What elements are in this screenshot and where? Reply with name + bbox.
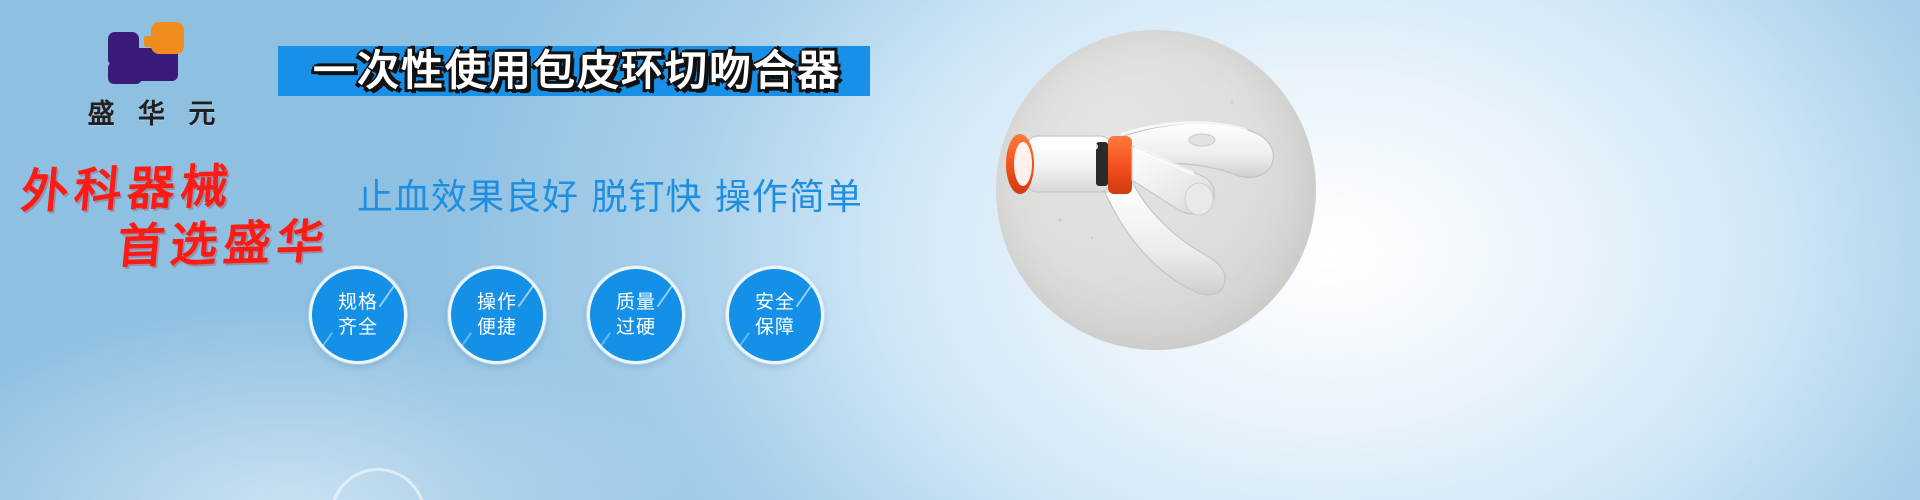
subtitle: 止血效果良好 脱钉快 操作简单 <box>340 168 880 220</box>
slash-icon <box>460 332 472 348</box>
shenghuayuan-block-logo-icon <box>108 22 200 84</box>
slash-icon <box>796 285 813 307</box>
promo-banner: 盛 华 元 外科器械 首选盛华 一次性使用包皮环切吻合器 止血效果良好 脱钉快 … <box>0 0 1920 500</box>
badge-line-2: 便捷 <box>477 315 517 340</box>
feature-badges: 规格 齐全 操作 便捷 质量 过硬 安全 保障 <box>309 266 869 362</box>
page-title: 一次性使用包皮环切吻合器 <box>282 44 872 98</box>
feature-badge[interactable]: 安全 保障 <box>726 266 824 364</box>
decorative-arc <box>330 468 426 500</box>
feature-badge[interactable]: 质量 过硬 <box>587 266 685 364</box>
feature-badge[interactable]: 规格 齐全 <box>309 266 407 364</box>
badge-line-2: 过硬 <box>616 315 656 340</box>
feature-badge[interactable]: 操作 便捷 <box>448 266 546 364</box>
slash-icon <box>599 332 611 348</box>
brand-logo[interactable]: 盛 华 元 <box>60 22 250 132</box>
circumcision-stapler-photo-icon <box>996 30 1316 350</box>
slash-icon <box>738 332 750 348</box>
badge-line-2: 保障 <box>755 315 795 340</box>
slash-icon <box>321 332 333 348</box>
product-photo <box>996 30 1316 350</box>
badge-line-1: 质量 <box>616 290 656 315</box>
brand-name: 盛 华 元 <box>60 92 250 131</box>
slash-icon <box>379 285 396 307</box>
badge-line-1: 操作 <box>477 290 517 315</box>
calligraphy-line-2: 首选盛华 <box>114 202 333 277</box>
slash-icon <box>518 285 535 307</box>
badge-line-1: 安全 <box>755 290 795 315</box>
badge-line-1: 规格 <box>338 290 378 315</box>
slash-icon <box>657 285 674 307</box>
badge-line-2: 齐全 <box>338 315 378 340</box>
